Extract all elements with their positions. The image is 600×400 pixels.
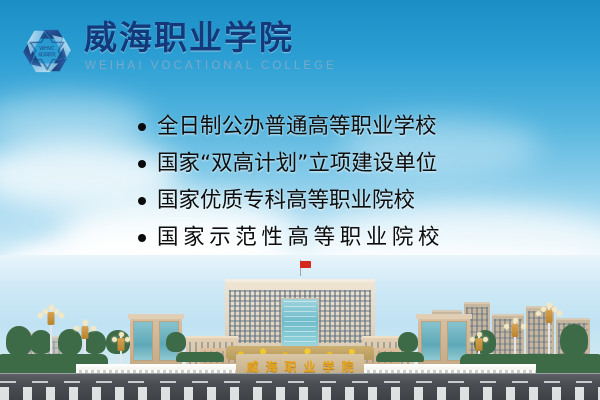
hedge [376, 352, 424, 362]
hedge [176, 352, 224, 362]
bullet-dot-icon [138, 160, 146, 168]
tree [398, 332, 418, 352]
gate-pylon-left [130, 314, 156, 366]
tree [560, 324, 588, 356]
monument-char: 威 [246, 358, 258, 375]
list-item-label: 国家示范性高等职业院校 [157, 219, 444, 256]
monument-char: 院 [342, 358, 354, 375]
list-item: 国家“双高计划”立项建设单位 [138, 145, 558, 182]
tree [166, 332, 186, 352]
monument-char: 职 [284, 358, 296, 375]
monument-char: 学 [323, 358, 335, 375]
college-name-english: WEIHAI VOCATIONAL COLLEGE [85, 60, 337, 72]
college-logo: WHVC 威海职院 威海职业学院 WEIHAI VOCATIONAL COLLE… [16, 18, 306, 84]
monument-char: 业 [304, 358, 316, 375]
campus-photo: 威 海 职 业 学 院 [0, 255, 600, 400]
list-item-label: 全日制公办普通高等职业学校 [157, 108, 437, 145]
logo-mark-text-cn: 威海职院 [38, 51, 56, 58]
college-name-chinese: 威海职业学院 [84, 18, 294, 58]
list-item-label: 国家“双高计划”立项建设单位 [157, 145, 437, 182]
bullet-dot-icon [138, 123, 146, 131]
list-item: 国家优质专科高等职业院校 [138, 182, 558, 219]
list-item: 国家示范性高等职业院校 [138, 219, 558, 256]
tree [6, 326, 32, 356]
national-flag-icon [300, 261, 311, 268]
logo-mark-text-en: WHVC [39, 46, 55, 52]
bullet-dot-icon [138, 197, 146, 205]
cloud-decoration [0, 95, 150, 150]
road-lane-marking [0, 381, 600, 383]
crosswalk-stripes [0, 387, 600, 400]
college-promo-banner: WHVC 威海职院 威海职业学院 WEIHAI VOCATIONAL COLLE… [0, 0, 600, 400]
list-item: 全日制公办普通高等职业学校 [138, 108, 558, 145]
monument-char: 海 [265, 358, 277, 375]
star-of-hands-logo-icon: WHVC 威海职院 [16, 20, 78, 82]
list-item-label: 国家优质专科高等职业院校 [157, 182, 415, 219]
bullet-dot-icon [138, 234, 146, 242]
